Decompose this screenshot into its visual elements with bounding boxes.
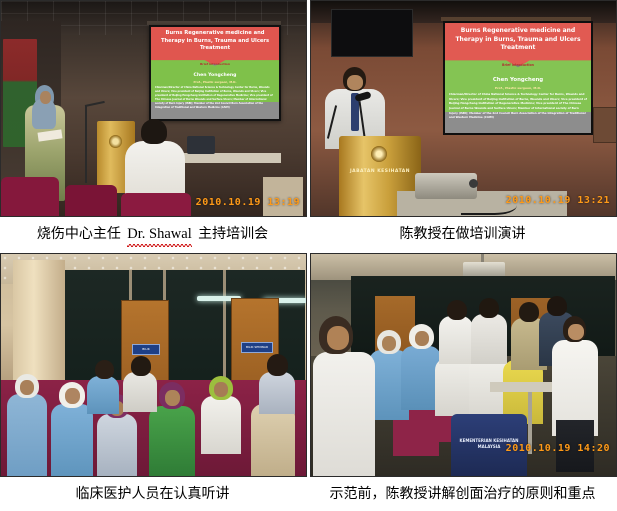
slide-presenter-role: Prof., Plastic surgeon, M.D. bbox=[156, 80, 274, 84]
slide-subtitle: Brief introduction bbox=[156, 62, 274, 66]
photo-timestamp: 2010.10.19 13:21 bbox=[506, 195, 610, 206]
attendee-body bbox=[435, 358, 473, 416]
slide-title: Burns Regenerative medicine and Therapy … bbox=[156, 30, 274, 53]
attendee-body bbox=[51, 404, 93, 476]
slide-bullets: Chiarman/Director of China National Scie… bbox=[449, 92, 587, 120]
slide-subtitle: Brief introduction bbox=[450, 63, 586, 67]
photo-4[interactable]: KEMENTERIAN KESIHATAN MALAYSIA 2010.10.1… bbox=[310, 253, 617, 477]
attendee-body bbox=[251, 404, 295, 476]
auditorium-seat bbox=[65, 185, 117, 216]
wall-monitor bbox=[331, 9, 413, 57]
projection-screen: Burns Regenerative medicine and Therapy … bbox=[149, 25, 281, 121]
projector-lens-icon bbox=[469, 179, 478, 188]
photo-1[interactable]: Burns Regenerative medicine and Therapy … bbox=[0, 0, 307, 217]
attendee-body bbox=[201, 396, 241, 454]
attendee-face bbox=[382, 336, 396, 351]
slide-bullets: Chiarman/Director of China National Scie… bbox=[155, 86, 275, 110]
slide-presenter-name: Chen Yongcheng bbox=[450, 77, 586, 83]
lectern-emblem bbox=[371, 146, 387, 162]
photo-4-caption: 示范前，陈教授讲解创面治疗的原则和重点 bbox=[310, 477, 615, 504]
photo-1-caption: 烧伤中心主任 Dr. Shawal 主持培训会 bbox=[0, 217, 305, 245]
attendee-face bbox=[214, 382, 228, 397]
window-mullion bbox=[223, 270, 226, 390]
presenter-face bbox=[568, 324, 584, 340]
auditorium-seat bbox=[121, 193, 191, 216]
photo-grid: Burns Regenerative medicine and Therapy … bbox=[0, 0, 617, 506]
attendee-head bbox=[547, 296, 567, 316]
slide-presenter-role: Prof., Plastic surgeon, M.D. bbox=[450, 86, 586, 90]
attendee-head bbox=[131, 356, 151, 376]
attendee-body bbox=[471, 314, 507, 364]
attendee-body bbox=[7, 394, 47, 476]
door-sign: BILIK SEMINAR bbox=[241, 342, 273, 353]
photo-4-scene: KEMENTERIAN KESIHATAN MALAYSIA 2010.10.1… bbox=[311, 254, 616, 476]
lectern-label: JABATAN KESIHATAN bbox=[347, 169, 413, 174]
attendee-head bbox=[519, 302, 539, 322]
foreground-attendee-face bbox=[327, 326, 349, 350]
photo-2[interactable]: Burns Regenerative medicine and Therapy … bbox=[310, 0, 617, 217]
attendee-head bbox=[447, 300, 467, 320]
auditorium-seat bbox=[1, 177, 59, 216]
photo-1-scene: Burns Regenerative medicine and Therapy … bbox=[1, 1, 306, 216]
photo-timestamp: 2010.10.19 13:19 bbox=[196, 197, 300, 208]
attendee-head bbox=[479, 298, 499, 318]
photo-2-caption: 陈教授在做培训演讲 bbox=[310, 217, 615, 244]
attendee-body bbox=[123, 372, 157, 412]
attendee-head bbox=[95, 360, 114, 379]
photo-cell-2: Burns Regenerative medicine and Therapy … bbox=[310, 0, 617, 253]
presenter-face bbox=[347, 75, 363, 90]
photo-report-page: Burns Regenerative medicine and Therapy … bbox=[0, 0, 617, 511]
photo-3-scene: BILIK BILIK SEMINAR bbox=[1, 254, 306, 476]
photo-3-caption: 临床医护人员在认真听讲 bbox=[0, 477, 305, 504]
door-sign: BILIK bbox=[132, 344, 160, 355]
attendee-face bbox=[165, 390, 180, 406]
attendee-body bbox=[439, 316, 473, 364]
photo-2-scene: Burns Regenerative medicine and Therapy … bbox=[311, 1, 616, 216]
projection-screen: Burns Regenerative medicine and Therapy … bbox=[443, 21, 593, 135]
foreground-attendee-body bbox=[313, 352, 375, 476]
lectern-emblem bbox=[109, 135, 122, 148]
av-equipment bbox=[187, 136, 215, 154]
caption-name-dr-shawal: Dr. Shawal bbox=[125, 225, 193, 245]
attendee-face bbox=[20, 380, 34, 395]
attendee-body bbox=[259, 372, 295, 414]
speaker-face bbox=[40, 91, 51, 104]
microphone-stand bbox=[85, 105, 87, 183]
attendee-body bbox=[97, 414, 137, 476]
attendee-face bbox=[65, 388, 80, 404]
photo-cell-1: Burns Regenerative medicine and Therapy … bbox=[0, 0, 307, 253]
slide-presenter-name: Chen Yongcheng bbox=[156, 73, 274, 78]
attendee-face bbox=[415, 331, 429, 346]
photo-timestamp: 2010.10.19 14:20 bbox=[506, 443, 610, 454]
photo-3[interactable]: BILIK BILIK SEMINAR bbox=[0, 253, 307, 477]
photo-cell-3: BILIK BILIK SEMINAR bbox=[0, 253, 307, 506]
attendee-body bbox=[87, 376, 119, 414]
caption-text-part: 主持培训会 bbox=[194, 226, 268, 242]
seated-attendee-head bbox=[141, 119, 167, 144]
av-table bbox=[177, 153, 281, 163]
caption-text-part: 烧伤中心主任 bbox=[37, 226, 125, 242]
attendee-body bbox=[149, 406, 195, 476]
photo-cell-4: KEMENTERIAN KESIHATAN MALAYSIA 2010.10.1… bbox=[310, 253, 617, 506]
attendee-head bbox=[267, 354, 288, 376]
wall-panel bbox=[593, 107, 616, 143]
slide-title: Burns Regenerative medicine and Therapy … bbox=[450, 27, 586, 53]
